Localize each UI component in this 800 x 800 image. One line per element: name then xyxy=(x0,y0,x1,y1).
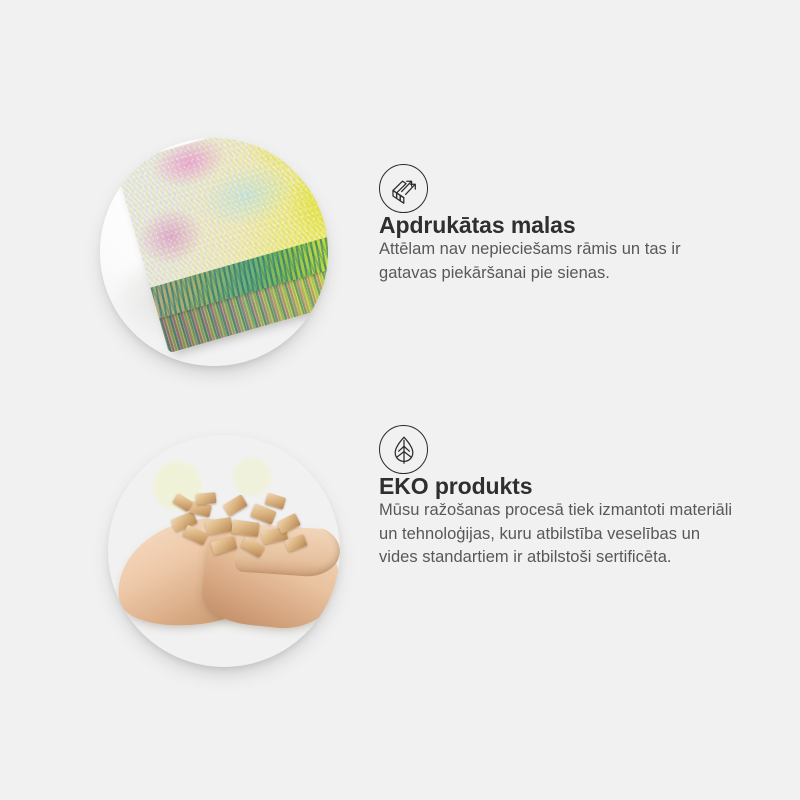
feature-text-eco-product: EKO produkts Mūsu ražošanas procesā tiek… xyxy=(379,425,739,570)
canvas-corner-photo-wrapper xyxy=(100,138,328,366)
hands-with-wood-chips-photo xyxy=(108,435,340,667)
feature-title: Apdrukātas malas xyxy=(379,213,739,238)
feature-block-eco-product: EKO produkts Mūsu ražošanas procesā tiek… xyxy=(0,425,800,675)
canvas-corner-photo xyxy=(100,138,328,366)
wrapped-canvas-edge-icon xyxy=(379,164,428,213)
feature-description: Attēlam nav nepieciešams rāmis un tas ir… xyxy=(379,238,731,285)
feature-page: Apdrukātas malas Attēlam nav nepieciešam… xyxy=(0,0,800,800)
eco-photo-wrapper xyxy=(108,435,340,667)
wood-chips xyxy=(166,489,314,571)
feature-description: Mūsu ražošanas procesā tiek izmantoti ma… xyxy=(379,499,739,569)
feature-text-printed-edges: Apdrukātas malas Attēlam nav nepieciešam… xyxy=(379,164,739,285)
feature-title: EKO produkts xyxy=(379,474,739,499)
leaf-icon xyxy=(379,425,428,474)
feature-block-printed-edges: Apdrukātas malas Attēlam nav nepieciešam… xyxy=(0,130,800,390)
